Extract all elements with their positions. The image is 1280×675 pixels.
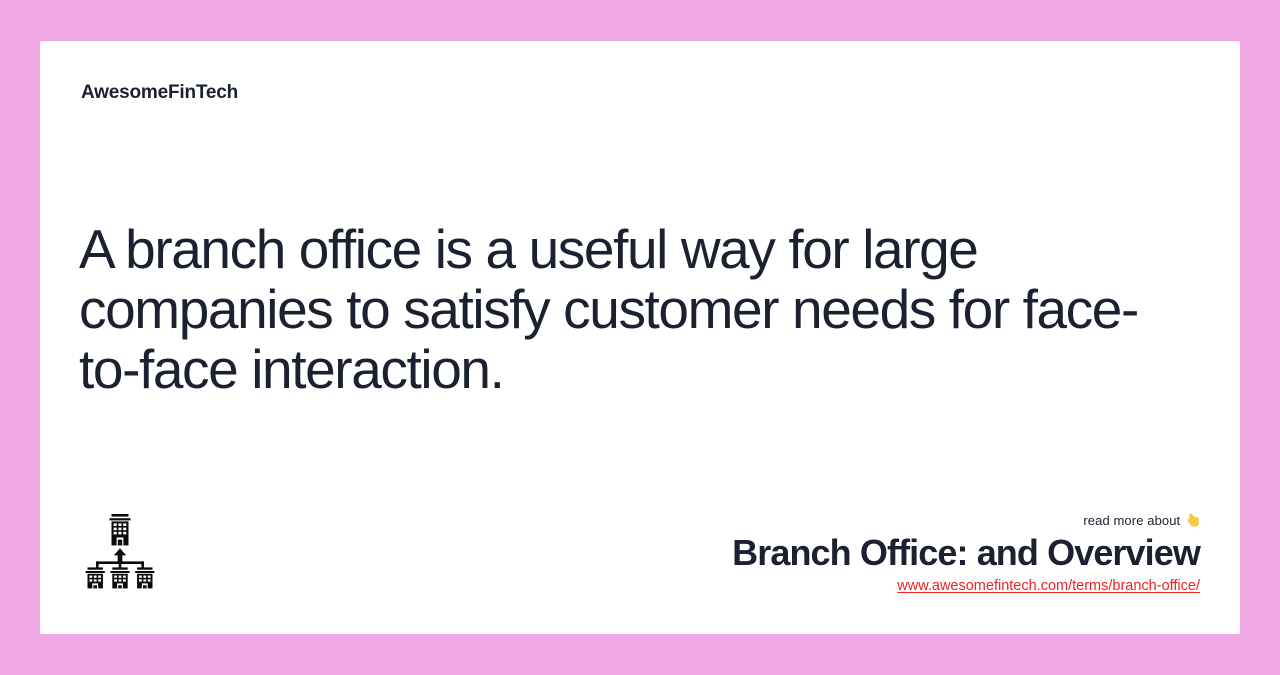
read-more-text: read more about: [1083, 513, 1180, 528]
share-card-canvas: AwesomeFinTech A branch office is a usef…: [0, 0, 1280, 675]
white-card: AwesomeFinTech A branch office is a usef…: [40, 41, 1240, 634]
branch-office-hierarchy-icon: [80, 512, 160, 590]
entry-title: Branch Office: and Overview: [732, 532, 1200, 574]
footer-entry-block: read more about Branch Office: and Overv…: [732, 512, 1200, 596]
brand-logo-text: AwesomeFinTech: [81, 82, 238, 104]
pointing-down-hand-icon: [1187, 513, 1200, 528]
entry-url-link[interactable]: www.awesomefintech.com/terms/branch-offi…: [897, 576, 1200, 596]
quote-text: A branch office is a useful way for larg…: [79, 219, 1139, 399]
read-more-label: read more about: [732, 512, 1200, 530]
